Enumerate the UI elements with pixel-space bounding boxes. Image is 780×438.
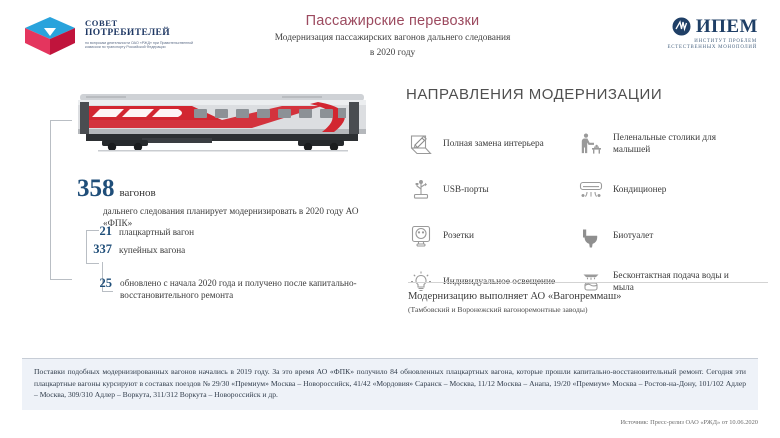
breakdown-label-0: плацкартный вагон — [119, 227, 194, 237]
main-stat-bracket — [50, 120, 77, 280]
main-stat-number: 358 — [77, 176, 115, 202]
page-header: СОВЕТ ПОТРЕБИТЕЛЕЙ по вопросам деятельно… — [0, 0, 780, 78]
main-stat-unit: вагонов — [120, 187, 156, 199]
infographic-page: СОВЕТ ПОТРЕБИТЕЛЕЙ по вопросам деятельно… — [0, 0, 780, 438]
features-column-1: Полная замена интерьера — [408, 128, 580, 312]
breakdown-item-platskart: 21 плацкартный вагон — [88, 224, 194, 239]
council-line2: ПОТРЕБИТЕЛЕЙ — [85, 28, 203, 39]
main-stat: 358вагонов дальнего следования планирует… — [77, 176, 377, 230]
features-column-2: Пеленальные столики для малышей — [578, 128, 750, 312]
consumer-council-logo-icon — [22, 15, 78, 57]
blueprint-pencil-icon — [408, 131, 434, 157]
ipem-mark-icon — [672, 17, 691, 36]
left-column: 358вагонов дальнего следования планирует… — [0, 80, 400, 350]
page-subtitle-line1: Модернизация пассажирских вагонов дальне… — [215, 32, 570, 45]
source-note: Источник: Пресс-релиз ОАО «РЖД» от 10.06… — [620, 419, 758, 426]
feature-label-air-conditioner: Кондиционер — [613, 184, 666, 196]
feature-label-usb: USB-порты — [443, 184, 489, 196]
passenger-railcar-image — [72, 88, 372, 158]
extra-stat: 25 обновлено с начала 2020 года и получе… — [88, 277, 378, 302]
council-subtitle: по вопросам деятельности ОАО «РЖД» при П… — [85, 41, 203, 50]
breakdown-item-kupe: 337 купейных вагона — [88, 242, 185, 257]
extra-stat-label: обновлено с начала 2020 года и получено … — [120, 277, 370, 302]
performer-block: Модернизацию выполняет АО «Вагонреммаш» … — [408, 290, 778, 315]
feature-power-sockets: Розетки — [408, 220, 580, 252]
breakdown-number-0: 21 — [88, 224, 112, 239]
usb-port-icon — [408, 177, 434, 203]
consumer-council-logo: СОВЕТ ПОТРЕБИТЕЛЕЙ по вопросам деятельно… — [22, 15, 202, 61]
section-title: НАПРАВЛЕНИЯ МОДЕРНИЗАЦИИ — [406, 86, 780, 104]
power-socket-icon — [408, 223, 434, 249]
performer-line1: Модернизацию выполняет АО «Вагонреммаш» — [408, 290, 778, 304]
consumer-council-logo-text: СОВЕТ ПОТРЕБИТЕЛЕЙ по вопросам деятельно… — [85, 15, 203, 50]
feature-usb-ports: USB-порты — [408, 174, 580, 206]
air-conditioner-icon — [578, 177, 604, 203]
performer-line2: (Тамбовский и Воронежский вагоноремонтны… — [408, 305, 778, 315]
page-subtitle-line2: в 2020 году — [215, 47, 570, 60]
page-title: Пассажирские перевозки — [215, 12, 570, 30]
feature-air-conditioner: Кондиционер — [578, 174, 750, 206]
ipem-name: ИПЕМ — [696, 17, 758, 36]
feature-interior-replacement: Полная замена интерьера — [408, 128, 580, 160]
toilet-icon — [578, 223, 604, 249]
right-column: НАПРАВЛЕНИЯ МОДЕРНИЗАЦИИ Полная замена и… — [406, 86, 780, 336]
council-line1: СОВЕТ — [85, 18, 203, 28]
feature-label-sockets: Розетки — [443, 230, 474, 242]
ipem-subtitle-line2: ЕСТЕСТВЕННЫХ МОНОПОЛИЙ — [608, 45, 758, 51]
breakdown-number-1: 337 — [88, 242, 112, 257]
extra-stat-number: 25 — [88, 277, 112, 290]
baby-changing-table-icon — [578, 131, 604, 157]
performer-divider — [408, 282, 768, 283]
breakdown-label-1: купейных вагона — [119, 245, 185, 255]
ipem-logo: ИПЕМ ИНСТИТУТ ПРОБЛЕМ ЕСТЕСТВЕННЫХ МОНОП… — [608, 17, 758, 61]
ipem-logo-row: ИПЕМ — [608, 17, 758, 36]
bottom-banner: Поставки подобных модернизированных ваго… — [22, 358, 758, 410]
feature-label-interior: Полная замена интерьера — [443, 138, 544, 150]
feature-baby-changing-tables: Пеленальные столики для малышей — [578, 128, 750, 160]
title-block: Пассажирские перевозки Модернизация пасс… — [215, 12, 570, 59]
bottom-banner-text: Поставки подобных модернизированных ваго… — [34, 366, 746, 401]
feature-label-baby-tables: Пеленальные столики для малышей — [613, 132, 750, 156]
feature-bio-toilet: Биотуалет — [578, 220, 750, 252]
feature-label-bio-toilet: Биотуалет — [613, 230, 653, 242]
